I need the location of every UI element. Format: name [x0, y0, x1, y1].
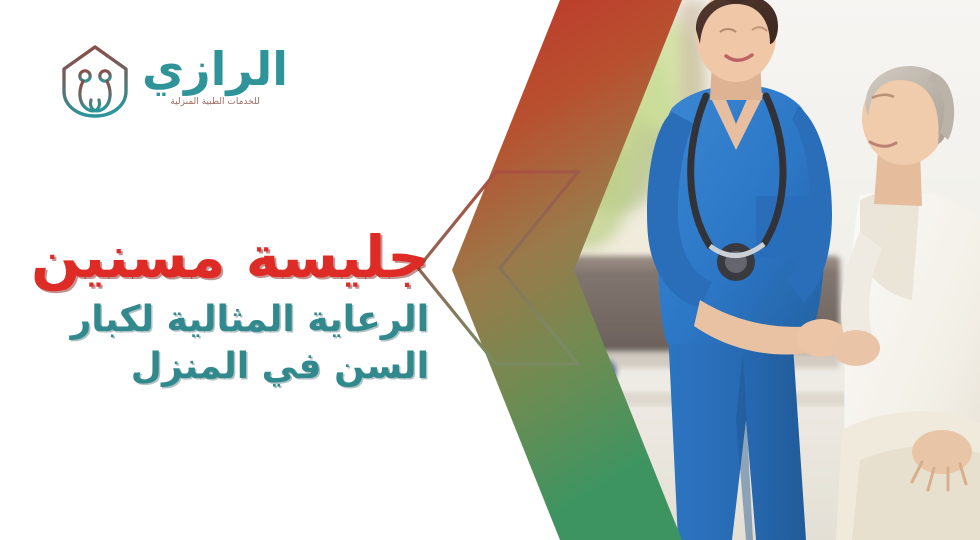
nurse-and-elderly-woman-photo — [560, 0, 980, 540]
page-title: جليسة مسنين — [29, 228, 429, 287]
subtitle-line-2: السن في المنزل — [29, 344, 429, 391]
headline-block: جليسة مسنين الرعاية المثالية لكبار السن … — [29, 228, 429, 391]
promo-banner: { "banner": { "background_color": "#ffff… — [0, 0, 980, 540]
outline-chevron — [404, 168, 584, 368]
photo-illustration — [560, 0, 980, 540]
logo-subtitle: للخدمات الطبية المنزلية — [170, 97, 259, 107]
brand-logo[interactable]: الرازي للخدمات الطبية المنزلية — [58, 42, 288, 120]
subtitle-line-1: الرعاية المثالية لكبار — [29, 297, 429, 344]
logo-text-group: الرازي للخدمات الطبية المنزلية — [142, 42, 288, 107]
logo-wordmark: الرازي — [142, 46, 288, 92]
house-heart-stethoscope-icon — [58, 42, 132, 120]
page-subtitle: الرعاية المثالية لكبار السن في المنزل — [29, 297, 429, 391]
